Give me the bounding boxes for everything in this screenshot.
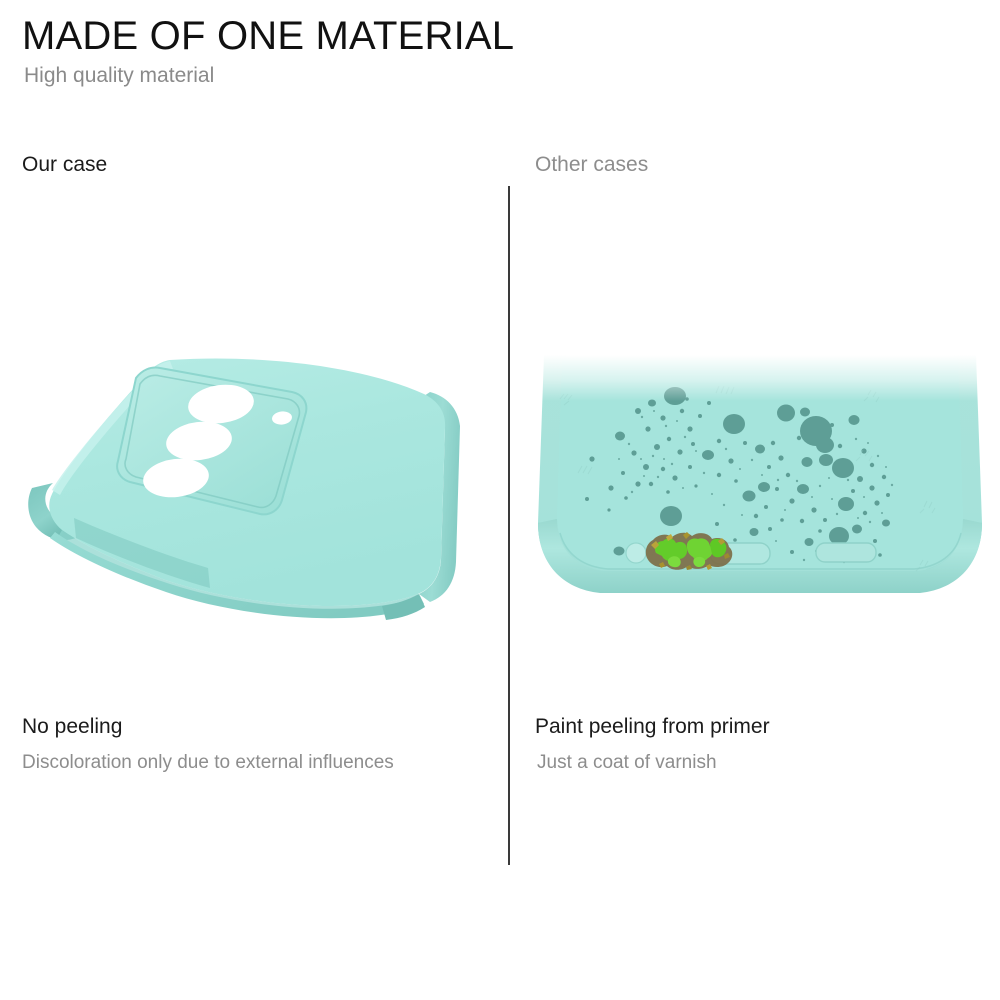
vertical-divider [508,186,510,865]
caption-sub-discoloration: Discoloration only due to external influ… [22,752,394,774]
page-subtitle: High quality material [24,64,214,88]
column-heading-our-case: Our case [22,153,107,177]
top-fade-overlay [520,355,1000,401]
figure-our-case [10,330,500,670]
speaker-slot-cutout-2 [816,543,876,562]
mic-dot [614,547,625,556]
page-title: MADE OF ONE MATERIAL [22,14,514,59]
figure-other-cases [520,355,1000,655]
caption-title-no-peeling: No peeling [22,715,122,739]
column-heading-other-cases: Other cases [535,153,648,177]
caption-title-paint-peeling: Paint peeling from primer [535,715,770,739]
caption-sub-varnish: Just a coat of varnish [537,752,717,774]
